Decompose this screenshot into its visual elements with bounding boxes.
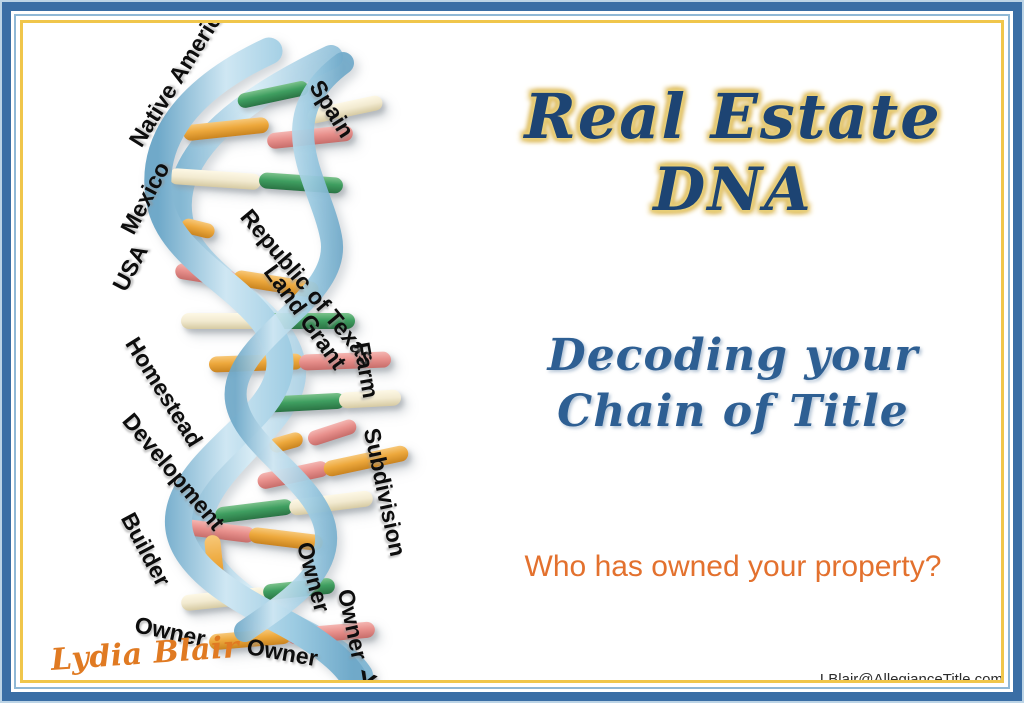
title-line-1: Real Estate — [463, 85, 1001, 148]
poster-title: Real Estate DNA — [463, 85, 1001, 221]
poster-canvas: Native AmericansSpainMexicoRepublic of T… — [0, 0, 1024, 703]
poster-subtitle: Decoding your Chain of Title — [463, 328, 1001, 441]
subtitle-line-1: Decoding your — [463, 328, 1001, 384]
dna-double-helix-illustration — [31, 23, 451, 680]
tagline-question: Who has owned your property? — [463, 550, 1001, 584]
poster-content-area: Native AmericansSpainMexicoRepublic of T… — [23, 23, 1001, 680]
title-line-2: DNA — [463, 160, 1001, 221]
subtitle-line-2: Chain of Title — [463, 384, 1001, 440]
contact-email[interactable]: LBlair@AllegianceTitle.com — [683, 671, 1001, 680]
